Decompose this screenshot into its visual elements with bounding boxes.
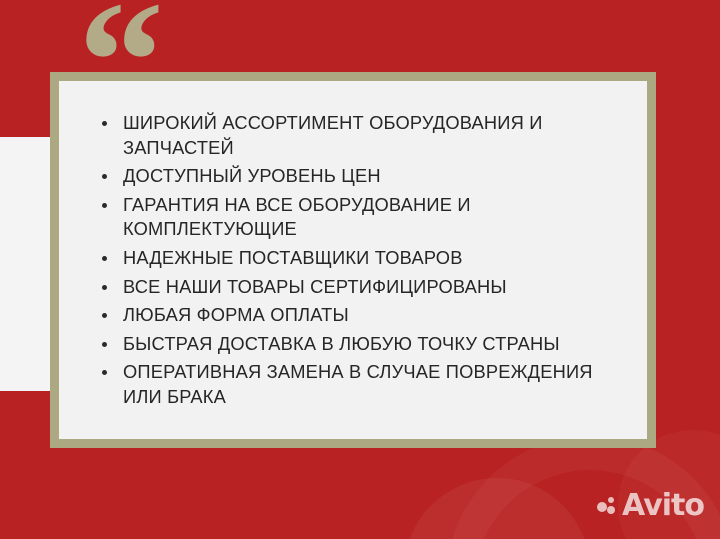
bullet-icon bbox=[102, 342, 107, 347]
slide-image: “ ШИРОКИЙ АССОРТИМЕНТ ОБОРУДОВАНИЯ И ЗАП… bbox=[0, 0, 720, 539]
avito-wordmark: Avito bbox=[622, 491, 704, 521]
list-item-label: ЛЮБАЯ ФОРМА ОПЛАТЫ bbox=[123, 304, 349, 325]
content-card: ШИРОКИЙ АССОРТИМЕНТ ОБОРУДОВАНИЯ И ЗАПЧА… bbox=[50, 72, 656, 448]
list-item: НАДЕЖНЫЕ ПОСТАВЩИКИ ТОВАРОВ bbox=[97, 246, 619, 271]
list-item-label: ОПЕРАТИВНАЯ ЗАМЕНА В СЛУЧАЕ ПОВРЕЖДЕНИЯ … bbox=[123, 361, 593, 407]
list-item-label: БЫСТРАЯ ДОСТАВКА В ЛЮБУЮ ТОЧКУ СТРАНЫ bbox=[123, 333, 560, 354]
list-item: БЫСТРАЯ ДОСТАВКА В ЛЮБУЮ ТОЧКУ СТРАНЫ bbox=[97, 332, 619, 357]
bullet-icon bbox=[102, 313, 107, 318]
content-card-inner: ШИРОКИЙ АССОРТИМЕНТ ОБОРУДОВАНИЯ И ЗАПЧА… bbox=[59, 81, 647, 439]
list-item: ОПЕРАТИВНАЯ ЗАМЕНА В СЛУЧАЕ ПОВРЕЖДЕНИЯ … bbox=[97, 360, 619, 409]
list-item-label: ВСЕ НАШИ ТОВАРЫ СЕРТИФИЦИРОВАНЫ bbox=[123, 276, 507, 297]
avito-watermark: Avito bbox=[597, 491, 704, 521]
bullet-icon bbox=[102, 256, 107, 261]
bullet-icon bbox=[102, 285, 107, 290]
list-item: ВСЕ НАШИ ТОВАРЫ СЕРТИФИЦИРОВАНЫ bbox=[97, 275, 619, 300]
bullet-icon bbox=[102, 203, 107, 208]
list-item-label: ШИРОКИЙ АССОРТИМЕНТ ОБОРУДОВАНИЯ И ЗАПЧА… bbox=[123, 112, 543, 158]
list-item: ШИРОКИЙ АССОРТИМЕНТ ОБОРУДОВАНИЯ И ЗАПЧА… bbox=[97, 111, 619, 160]
list-item: ЛЮБАЯ ФОРМА ОПЛАТЫ bbox=[97, 303, 619, 328]
advantages-list: ШИРОКИЙ АССОРТИМЕНТ ОБОРУДОВАНИЯ И ЗАПЧА… bbox=[97, 111, 619, 410]
list-item: ДОСТУПНЫЙ УРОВЕНЬ ЦЕН bbox=[97, 164, 619, 189]
list-item-label: НАДЕЖНЫЕ ПОСТАВЩИКИ ТОВАРОВ bbox=[123, 247, 463, 268]
bullet-icon bbox=[102, 370, 107, 375]
list-item: ГАРАНТИЯ НА ВСЕ ОБОРУДОВАНИЕ И КОМПЛЕКТУ… bbox=[97, 193, 619, 242]
list-item-label: ДОСТУПНЫЙ УРОВЕНЬ ЦЕН bbox=[123, 165, 381, 186]
bullet-icon bbox=[102, 121, 107, 126]
avito-dots-icon bbox=[597, 496, 617, 517]
bullet-icon bbox=[102, 174, 107, 179]
list-item-label: ГАРАНТИЯ НА ВСЕ ОБОРУДОВАНИЕ И КОМПЛЕКТУ… bbox=[123, 194, 471, 240]
